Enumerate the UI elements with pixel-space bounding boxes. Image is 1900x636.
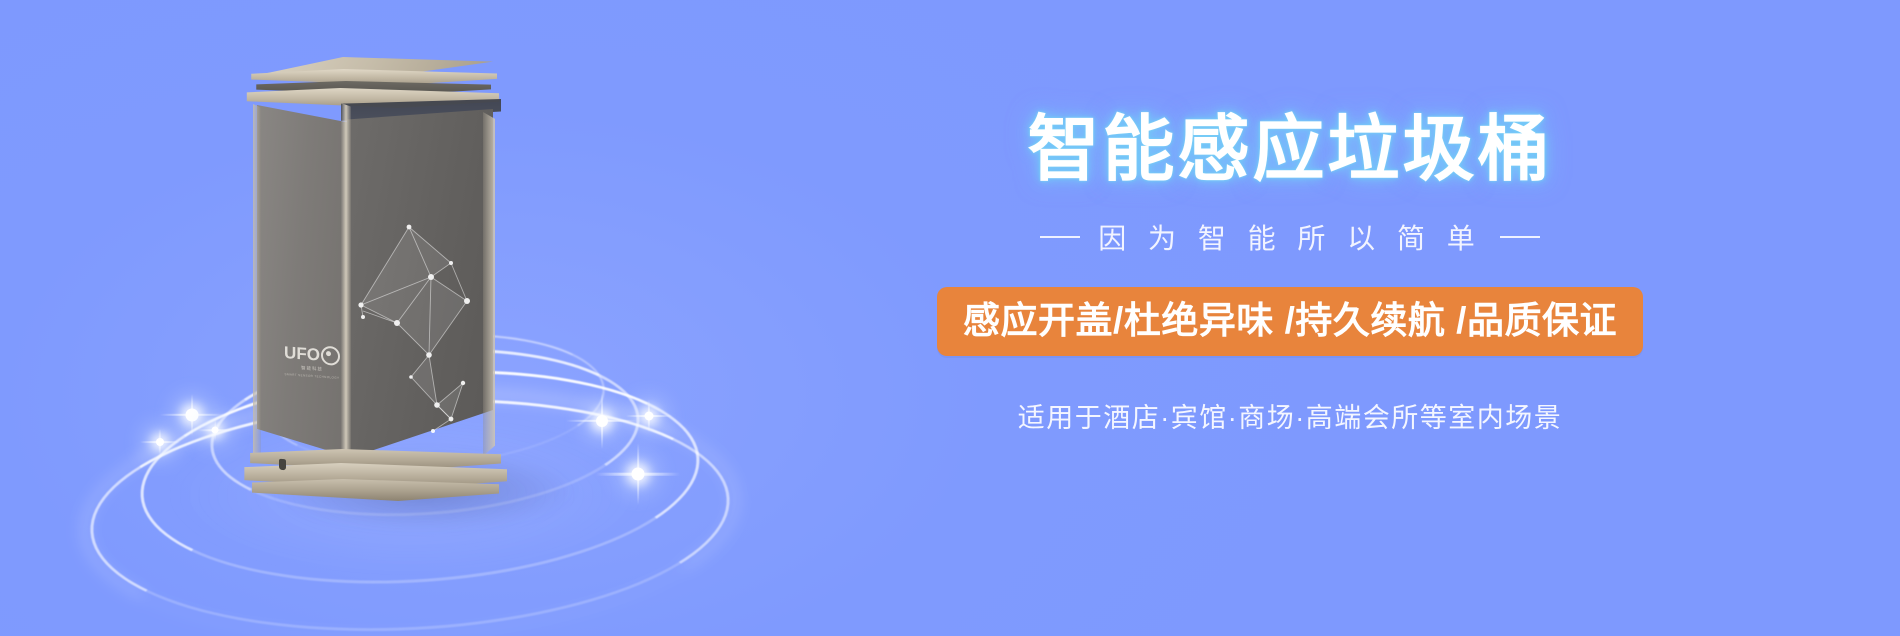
- brand-logo-circle-icon: [321, 346, 340, 366]
- feature-badge: 感应开盖/杜绝异味 /持久续航 /品质保证: [937, 287, 1643, 356]
- cabinet-edge-left: [253, 104, 261, 460]
- footnote: 适用于酒店·宾馆·商场·高端会所等室内场景: [880, 396, 1700, 435]
- subline: 因 为 智 能 所 以 简 单: [880, 217, 1700, 257]
- brand-logo-text: UFO: [284, 344, 320, 364]
- cabinet-panel-left: [257, 105, 349, 457]
- brand-logo: UFO 智能科技 SMART SENSOR TECHNOLOGY: [281, 343, 343, 380]
- headline: 智能感应垃圾桶: [880, 110, 1700, 191]
- cabinet-edge-center: [341, 103, 351, 463]
- subline-text: 因 为 智 能 所 以 简 单: [1098, 217, 1481, 257]
- product-image: UFO 智能科技 SMART SENSOR TECHNOLOGY: [255, 55, 585, 515]
- sensor-port-icon: [279, 459, 286, 471]
- brand-logo-mark: UFO: [281, 343, 343, 366]
- feature-badge-wrap: 感应开盖/杜绝异味 /持久续航 /品质保证: [880, 287, 1700, 356]
- network-graphic: [351, 205, 491, 455]
- promo-banner: UFO 智能科技 SMART SENSOR TECHNOLOGY 智能感应垃圾桶…: [0, 0, 1900, 636]
- copy-block: 智能感应垃圾桶 因 为 智 能 所 以 简 单 感应开盖/杜绝异味 /持久续航 …: [880, 110, 1700, 435]
- dash-right: [1500, 236, 1540, 238]
- dash-left: [1040, 236, 1080, 238]
